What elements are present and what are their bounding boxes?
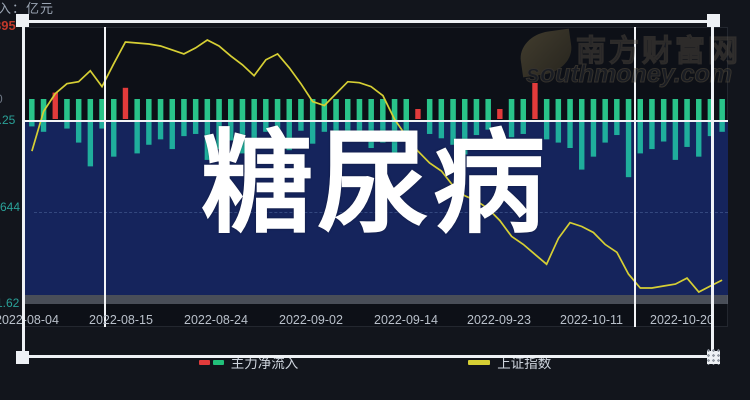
bar-cap: [649, 99, 654, 121]
x-axis-label-1: 2022-08-15: [89, 313, 153, 327]
legend-item-sse-index[interactable]: 上证指数: [468, 352, 551, 372]
y-axis-label-2: -0.644: [0, 200, 20, 214]
bar-cap: [205, 99, 210, 121]
bar-cap: [450, 99, 455, 121]
x-axis-label-7: 2022-10-20: [650, 313, 714, 327]
chart-legend: 主力净流入 上证指数: [0, 352, 750, 372]
bar-net-inflow[interactable]: [415, 109, 420, 119]
bar-cap: [614, 99, 619, 121]
legend-swatch-yellow-icon: [468, 360, 490, 365]
bar-cap: [76, 99, 81, 121]
x-axis-label-0: 2022-08-04: [0, 313, 59, 327]
x-axis-label-5: 2022-09-23: [467, 313, 531, 327]
x-axis-label-4: 2022-09-14: [374, 313, 438, 327]
bar-net-inflow[interactable]: [532, 83, 537, 119]
x-axis-label-3: 2022-09-02: [279, 313, 343, 327]
selection-handle-top-left[interactable]: [16, 14, 29, 27]
bar-cap: [322, 99, 327, 121]
bar-cap: [684, 99, 689, 121]
bar-cap: [556, 99, 561, 121]
bar-cap: [696, 99, 701, 121]
bar-cap: [719, 99, 724, 121]
legend-item-net-inflow[interactable]: 主力净流入: [199, 352, 299, 372]
bar-cap: [462, 99, 467, 121]
selection-resize-grip-icon[interactable]: [706, 348, 721, 365]
bar-cap: [287, 99, 292, 121]
x-axis-label-2: 2022-08-24: [184, 313, 248, 327]
bar-cap: [275, 99, 280, 121]
bar-net-inflow[interactable]: [497, 109, 502, 119]
crosshair-vertical-right[interactable]: [634, 27, 636, 327]
bar-cap: [298, 99, 303, 121]
bar-cap: [591, 99, 596, 121]
bar-cap: [357, 99, 362, 121]
bar-cap: [579, 99, 584, 121]
bar-cap: [345, 99, 350, 121]
y-axis-label-3: -1.62: [0, 296, 19, 310]
legend-swatch-red-icon: [199, 360, 210, 365]
bar-cap: [181, 99, 186, 121]
bar-cap: [602, 99, 607, 121]
bar-cap: [333, 99, 338, 121]
bar-cap: [146, 99, 151, 121]
selection-handle-top-right[interactable]: [707, 14, 720, 27]
bar-cap: [509, 99, 514, 121]
bar-cap: [626, 99, 631, 121]
x-axis-label-6: 2022-10-11: [560, 313, 623, 327]
bar-cap: [661, 99, 666, 121]
screenshot-root: 流入：亿元 395 0 -0.25 -0.644 -1.62 2022-08-0…: [0, 0, 750, 400]
y-axis-label-0: 0: [0, 92, 3, 106]
bar-cap: [240, 99, 245, 121]
legend-label-net-inflow: 主力净流入: [231, 352, 299, 372]
bar-cap: [439, 99, 444, 121]
y-axis-label-1: -0.25: [0, 113, 15, 127]
bar-cap: [673, 99, 678, 121]
chart-canvas: [0, 0, 750, 400]
bar-cap: [158, 99, 163, 121]
bar-cap: [228, 99, 233, 121]
bar-cap: [170, 99, 175, 121]
bar-cap: [474, 99, 479, 121]
crosshair-vertical-left[interactable]: [104, 27, 106, 327]
legend-label-sse-index: 上证指数: [497, 352, 551, 372]
bar-cap: [263, 99, 268, 121]
bar-net-inflow[interactable]: [123, 88, 128, 119]
bar-cap: [638, 99, 643, 121]
bar-cap: [134, 99, 139, 121]
bar-cap: [111, 99, 116, 121]
bar-cap: [567, 99, 572, 121]
bar-cap: [193, 99, 198, 121]
bar-cap: [485, 99, 490, 121]
bar-cap: [708, 99, 713, 121]
bar-cap: [251, 99, 256, 121]
bar-cap: [427, 99, 432, 121]
bar-cap: [216, 99, 221, 121]
bar-cap: [64, 99, 69, 121]
bar-cap: [380, 99, 385, 121]
bar-cap: [544, 99, 549, 121]
bar-cap: [521, 99, 526, 121]
crosshair-horizontal-zero[interactable]: [22, 120, 728, 122]
selection-handle-bottom-left[interactable]: [16, 351, 29, 364]
bar-cap: [29, 99, 34, 121]
legend-swatch-green-icon: [213, 360, 224, 365]
bar-cap: [368, 99, 373, 121]
bar-cap: [404, 99, 409, 121]
bar-cap: [88, 99, 93, 121]
